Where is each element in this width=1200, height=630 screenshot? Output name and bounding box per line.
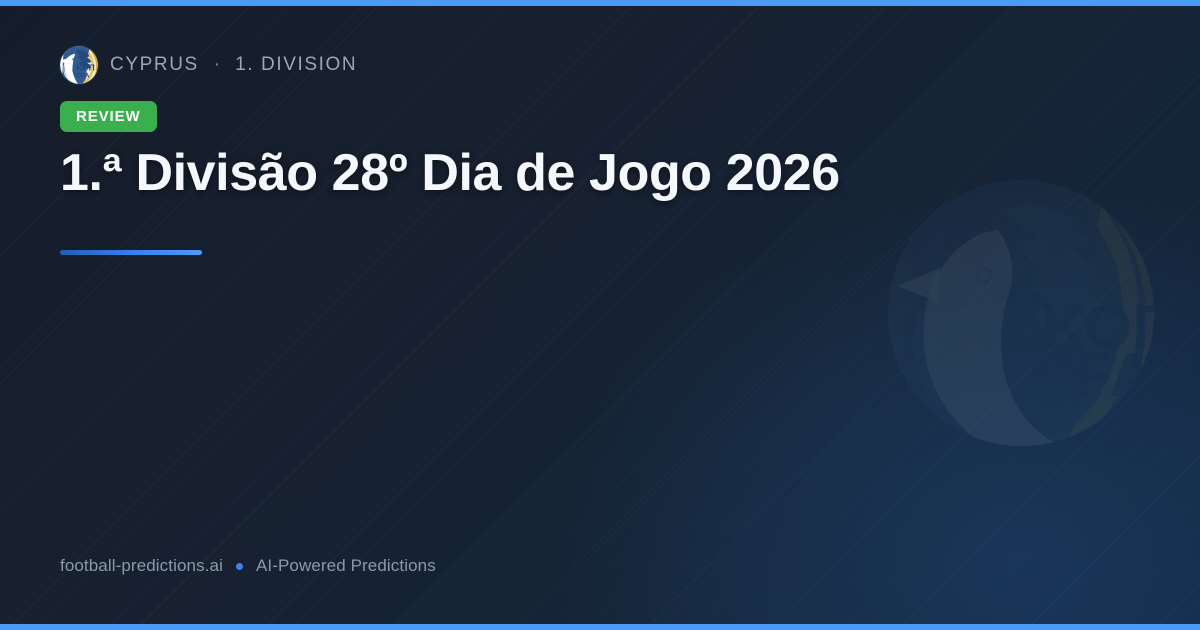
breadcrumb-separator: ·: [211, 54, 223, 76]
breadcrumb-country: CYPRUS: [110, 54, 199, 76]
breadcrumb-competition: 1. DIVISION: [235, 54, 357, 76]
footer-site-name: football-predictions.ai: [60, 556, 223, 576]
svg-text:ΚΟΠ: ΚΟΠ: [76, 63, 95, 73]
watermark-text-primary: ΚΟΠ: [1042, 293, 1162, 362]
footer-separator-dot: [236, 563, 243, 570]
footer-tagline: AI-Powered Predictions: [256, 556, 436, 576]
promo-banner: ΚΟΠ CFA: [0, 0, 1200, 630]
title-accent-rule: [60, 250, 202, 255]
page-title: 1.ª Divisão 28º Dia de Jogo 2026: [60, 142, 920, 204]
cyprus-fa-crest-icon: ΚΟΠ CFA: [60, 46, 98, 84]
breadcrumb: ΚΟΠ CFA CYPRUS · 1. DIVISION: [60, 47, 357, 83]
banner-content: ΚΟΠ CFA CYPRUS · 1. DIVISION REVIEW 1.ª …: [60, 0, 920, 630]
status-badge-review: REVIEW: [60, 101, 157, 132]
watermark-text-secondary: CFA: [1030, 341, 1154, 410]
cyprus-fa-crest-watermark-icon: ΚΟΠ CFA: [880, 170, 1162, 456]
footer: football-predictions.ai AI-Powered Predi…: [60, 556, 436, 576]
svg-text:CFA: CFA: [76, 72, 89, 79]
